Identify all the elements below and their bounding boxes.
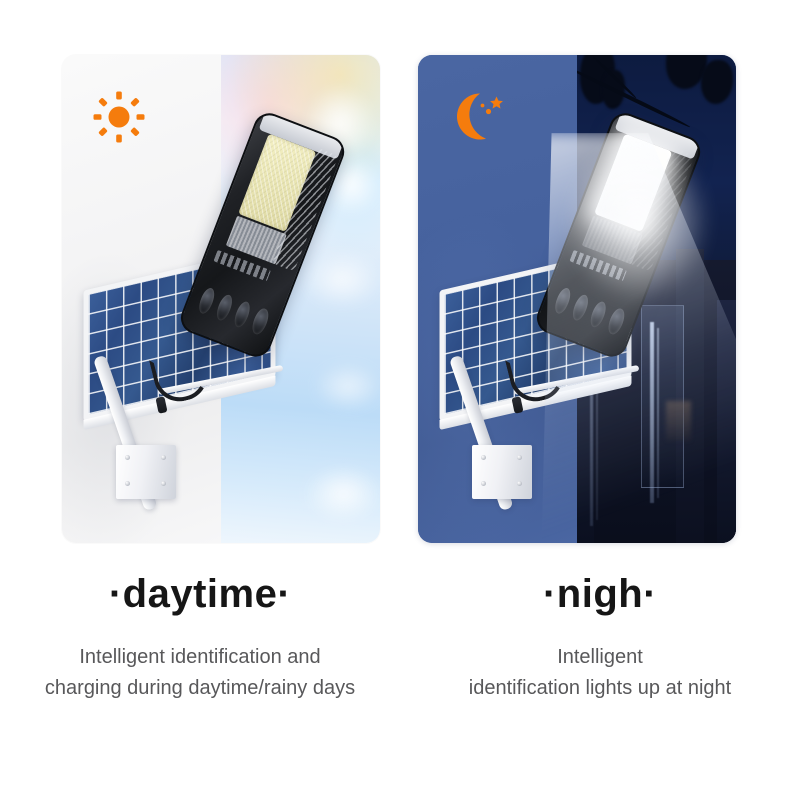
sensor-row [191,282,275,342]
lamp-housing [532,109,705,362]
product-feature-graphic: ·daytime· Intelligent identification and… [0,0,800,800]
daytime-caption: ·daytime· Intelligent identification and… [0,560,400,800]
bolt-icon [161,455,166,460]
bolt-icon [125,481,130,486]
caption-row: ·daytime· Intelligent identification and… [0,560,800,800]
sun-icon [91,89,147,145]
night-caption: ·nigh· Intelligent identification lights… [400,560,800,800]
bolt-icon [517,455,522,460]
sensor-icon [587,301,608,331]
lamp-housing [176,109,349,362]
night-description-line-1: Intelligent [469,642,731,673]
wall-bracket [116,445,176,499]
night-description: Intelligent identification lights up at … [469,642,731,704]
daytime-description-line-2: charging during daytime/rainy days [45,673,355,704]
night-description-line-2: identification lights up at night [469,673,731,704]
moon-icon [450,87,510,143]
sensor-icon [231,301,252,331]
sensor-icon [196,287,217,317]
wall-bracket [472,445,532,499]
sensor-row [547,282,631,342]
sensor-icon [552,287,573,317]
bolt-icon [125,455,130,460]
sensor-icon [249,307,270,337]
daytime-description: Intelligent identification and charging … [45,642,355,704]
night-title: ·nigh· [543,572,657,616]
daytime-description-line-1: Intelligent identification and [45,642,355,673]
bolt-icon [481,455,486,460]
bolt-icon [481,481,486,486]
daytime-title: ·daytime· [109,572,291,616]
sensor-icon [213,294,234,324]
lamp-head [176,109,349,362]
sensor-icon [605,307,626,337]
lamp-head [532,109,705,362]
night-scene-panel [418,55,736,543]
panel-row [0,0,800,560]
bolt-icon [517,481,522,486]
sensor-icon [569,294,590,324]
daytime-scene-panel [62,55,380,543]
bolt-icon [161,481,166,486]
